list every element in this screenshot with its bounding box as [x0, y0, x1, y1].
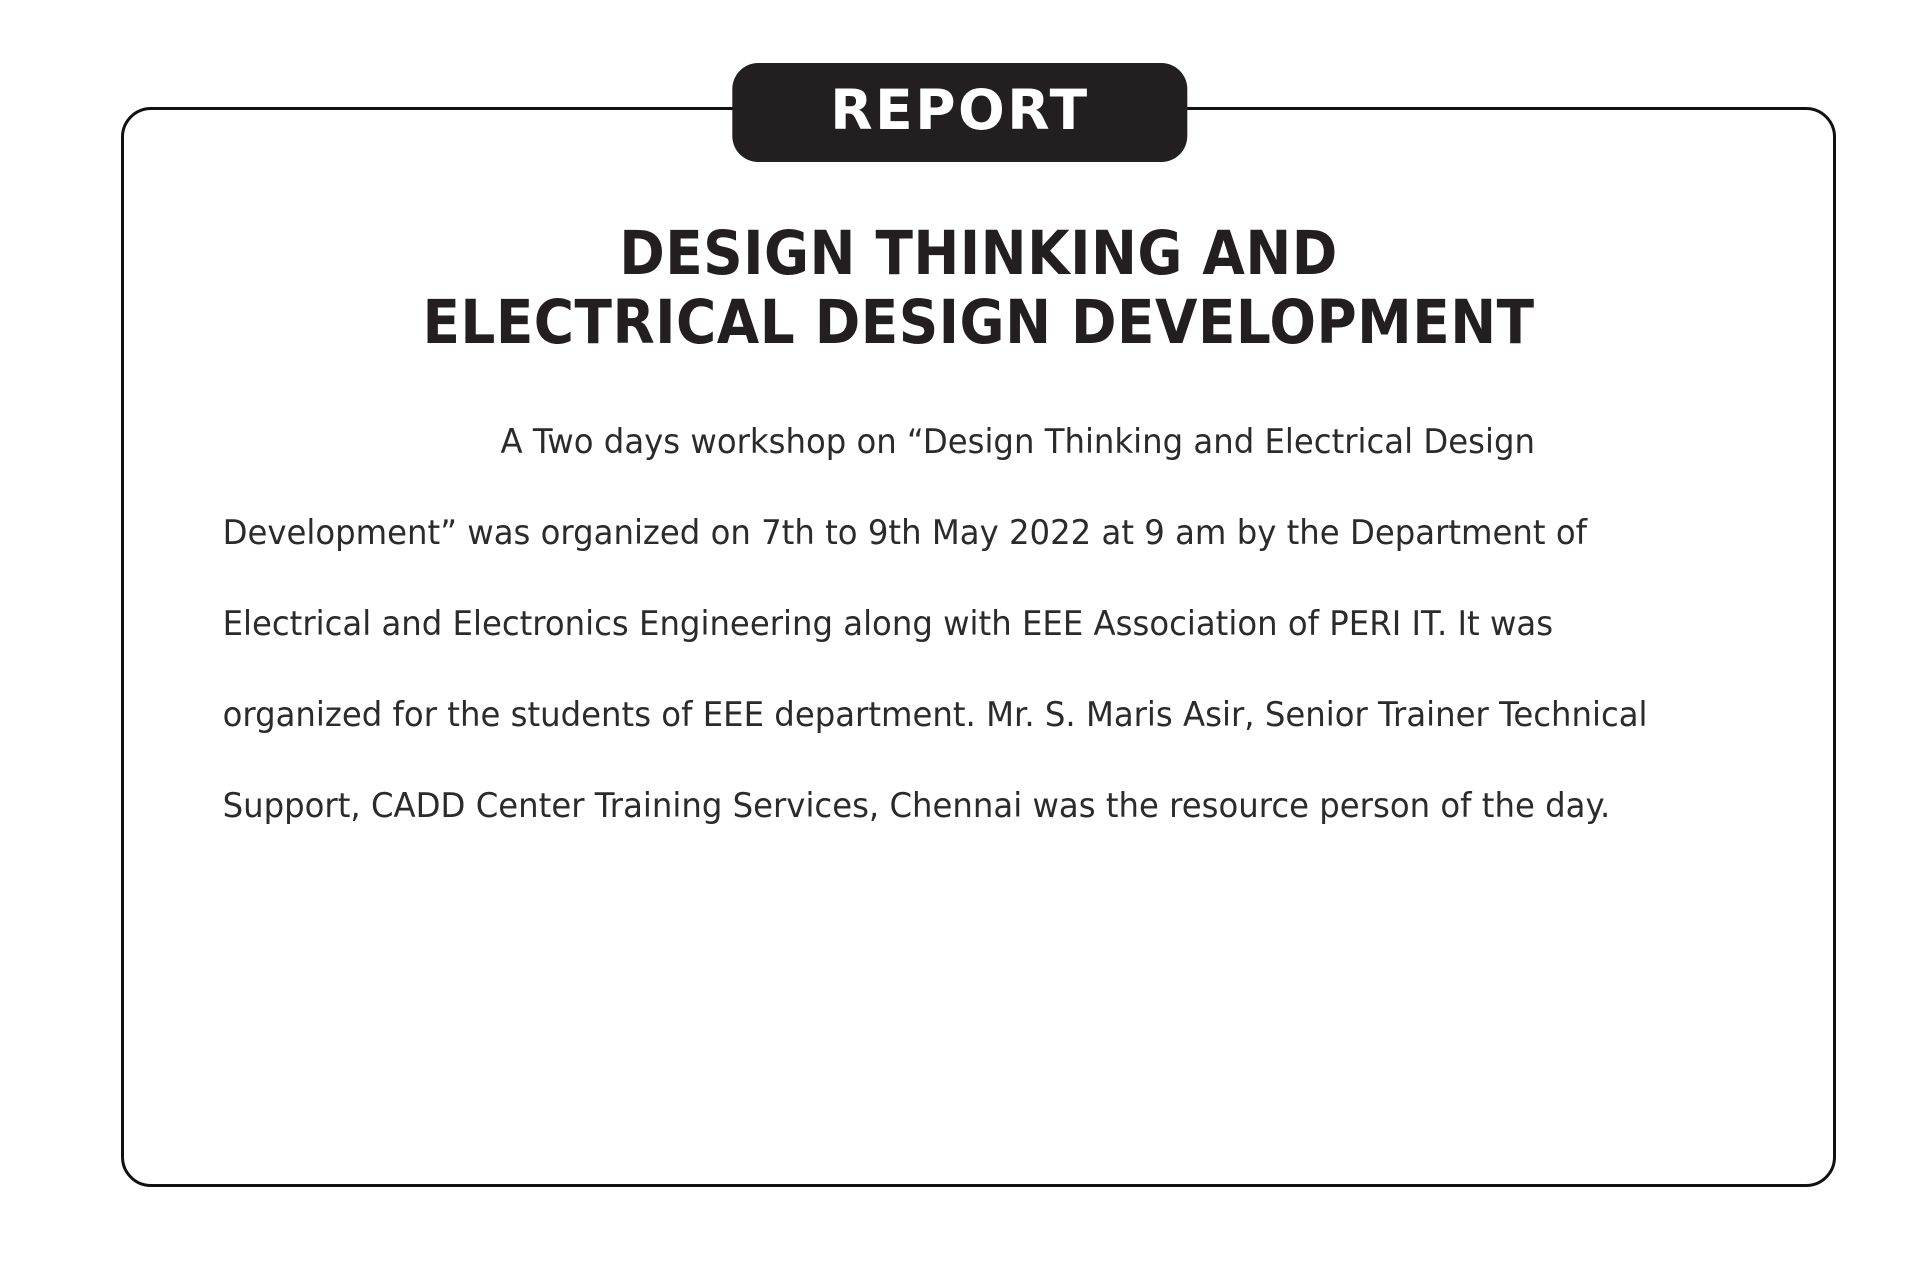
page-title-line-2: ELECTRICAL DESIGN DEVELOPMENT [263, 289, 1693, 358]
report-body-text: A Two days workshop on “Design Thinking … [184, 396, 1717, 852]
report-card: DESIGN THINKING AND ELECTRICAL DESIGN DE… [121, 107, 1836, 1187]
report-page: DESIGN THINKING AND ELECTRICAL DESIGN DE… [0, 0, 1920, 1280]
page-title: DESIGN THINKING AND ELECTRICAL DESIGN DE… [263, 220, 1693, 358]
report-card-content: DESIGN THINKING AND ELECTRICAL DESIGN DE… [124, 110, 1833, 1184]
report-badge-label: REPORT [830, 83, 1089, 138]
report-badge: REPORT [732, 63, 1187, 162]
page-title-line-1: DESIGN THINKING AND [263, 220, 1693, 289]
